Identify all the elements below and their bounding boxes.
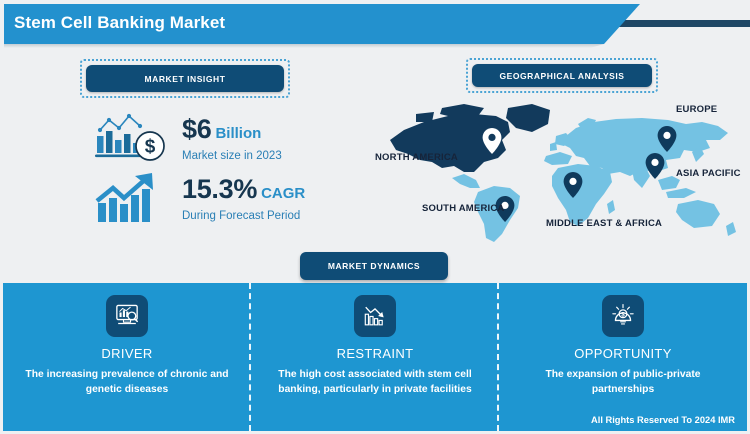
lightbulb-dollar-icon: $	[602, 295, 644, 337]
svg-text:$: $	[621, 312, 625, 319]
dynamics-column-restraint: RESTRAINT The high cost associated with …	[251, 283, 499, 431]
stat-market-size: $ $6Billion Market size in 2023	[92, 110, 282, 168]
dynamics-description-restraint: The high cost associated with stem cell …	[269, 368, 481, 398]
map-label-north-america: NORTH AMERICA	[375, 152, 458, 163]
stat-market-size-unit: Billion	[215, 125, 261, 142]
stat-market-size-text: $6Billion Market size in 2023	[182, 116, 282, 162]
badge-market-dynamics-label: MARKET DYNAMICS	[328, 261, 420, 271]
stat-cagr-headline: 15.3%CAGR	[182, 176, 305, 203]
monitor-analytics-search-icon	[106, 295, 148, 337]
badge-geographical-analysis-pill: GEOGRAPHICAL ANALYSIS	[472, 64, 652, 87]
dynamics-description-driver: The increasing prevalence of chronic and…	[21, 368, 233, 398]
badge-market-insight-pill: MARKET INSIGHT	[86, 65, 284, 92]
map-label-asia-pacific: ASIA PACIFIC	[676, 168, 741, 179]
dynamics-title-opportunity: OPPORTUNITY	[574, 346, 672, 361]
map-label-middle-east-africa: MIDDLE EAST & AFRICA	[546, 218, 662, 229]
stat-market-size-headline: $6Billion	[182, 116, 282, 143]
growth-arrow-icon	[92, 170, 170, 228]
page-title: Stem Cell Banking Market	[14, 13, 225, 33]
stat-market-size-value: $6	[182, 114, 211, 144]
infographic-root: Stem Cell Banking Market MARKET INSIGHT	[0, 0, 750, 434]
market-dynamics-panel: DRIVER The increasing prevalence of chro…	[3, 283, 747, 431]
stat-cagr-subtitle: During Forecast Period	[182, 210, 305, 222]
dynamics-description-opportunity: The expansion of public-private partners…	[517, 368, 729, 398]
stat-cagr: 15.3%CAGR During Forecast Period	[92, 170, 305, 228]
dynamics-title-restraint: RESTRAINT	[337, 346, 414, 361]
map-label-europe: EUROPE	[676, 104, 717, 115]
stat-cagr-text: 15.3%CAGR During Forecast Period	[182, 176, 305, 222]
dynamics-title-driver: DRIVER	[101, 346, 152, 361]
badge-market-insight-label: MARKET INSIGHT	[145, 74, 226, 84]
world-map: NORTH AMERICA SOUTH AMERICA EUROPE ASIA …	[380, 100, 748, 250]
declining-bar-chart-icon	[354, 295, 396, 337]
badge-market-insight: MARKET INSIGHT	[80, 59, 290, 98]
dynamics-column-driver: DRIVER The increasing prevalence of chro…	[3, 283, 251, 431]
stat-market-size-subtitle: Market size in 2023	[182, 150, 282, 162]
dynamics-column-opportunity: $ OPPORTUNITY The expansion of public-pr…	[499, 283, 747, 431]
svg-text:$: $	[145, 137, 156, 158]
map-label-south-america: SOUTH AMERICA	[422, 203, 504, 214]
footer-credit: All Rights Reserved To 2024 IMR	[591, 415, 735, 425]
badge-market-dynamics: MARKET DYNAMICS	[300, 252, 448, 280]
badge-geographical-analysis: GEOGRAPHICAL ANALYSIS	[466, 58, 658, 93]
badge-geographical-analysis-label: GEOGRAPHICAL ANALYSIS	[499, 71, 624, 81]
bar-chart-dollar-icon: $	[92, 110, 170, 168]
stat-cagr-value: 15.3%	[182, 174, 257, 204]
header-banner-shadow	[4, 44, 624, 48]
stat-cagr-unit: CAGR	[261, 185, 305, 202]
header: Stem Cell Banking Market	[0, 4, 750, 44]
